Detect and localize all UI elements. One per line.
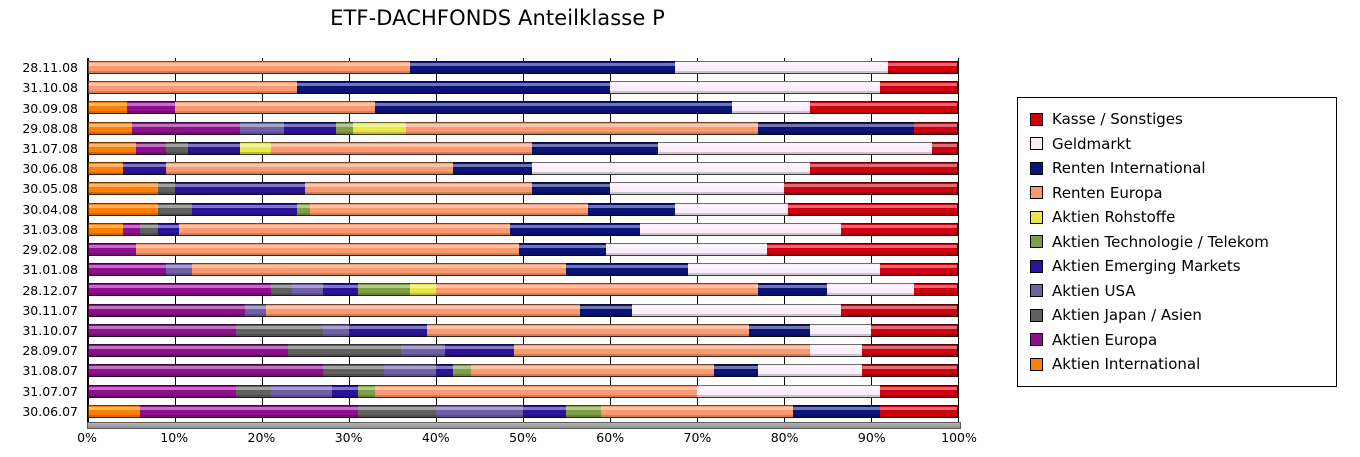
bar-segment[interactable] — [240, 122, 284, 135]
bar-segment[interactable] — [88, 344, 288, 357]
segment-shadow — [810, 354, 862, 356]
bar-segment[interactable] — [349, 324, 427, 337]
stacked-bar[interactable] — [88, 263, 958, 276]
segment-shadow — [375, 111, 732, 113]
segment-highlight — [810, 346, 862, 349]
bar-segment[interactable] — [297, 203, 310, 216]
bar-segment[interactable] — [793, 405, 880, 418]
legend-item[interactable]: Geldmarkt — [1030, 132, 1336, 157]
bar-segment[interactable] — [610, 81, 880, 94]
legend-item[interactable]: Aktien Rohstoffe — [1030, 205, 1336, 230]
segment-shadow — [89, 415, 140, 417]
legend-label: Aktien Europa — [1052, 331, 1157, 349]
segment-shadow — [358, 293, 410, 295]
bar-segment[interactable] — [632, 304, 841, 317]
segment-shadow — [297, 213, 310, 215]
bar-segment[interactable] — [841, 304, 958, 317]
segment-shadow — [140, 415, 358, 417]
segment-highlight — [89, 306, 245, 309]
segment-shadow — [640, 233, 840, 235]
segment-shadow — [767, 253, 957, 255]
segment-highlight — [175, 103, 375, 106]
bar-segment[interactable] — [88, 243, 136, 256]
legend-label: Kasse / Sonstiges — [1052, 110, 1183, 128]
bar-segment[interactable] — [166, 162, 453, 175]
segment-shadow — [292, 293, 322, 295]
bar-segment[interactable] — [436, 364, 453, 377]
bar-segment[interactable] — [580, 304, 632, 317]
bar-segment[interactable] — [810, 324, 871, 337]
segment-highlight — [862, 366, 957, 369]
segment-shadow — [810, 334, 871, 336]
bar-segment[interactable] — [297, 81, 610, 94]
legend-item[interactable]: Kasse / Sonstiges — [1030, 107, 1336, 132]
segment-shadow — [445, 354, 515, 356]
segment-highlight — [601, 407, 792, 410]
segment-shadow — [89, 71, 410, 73]
legend-item[interactable]: Aktien Emerging Markets — [1030, 254, 1336, 279]
bar-segment[interactable] — [123, 162, 167, 175]
segment-shadow — [658, 152, 932, 154]
segment-highlight — [236, 387, 271, 390]
stacked-bar[interactable] — [88, 344, 958, 357]
bar-segment[interactable] — [236, 324, 323, 337]
bar-segment[interactable] — [932, 142, 958, 155]
bar-segment[interactable] — [436, 405, 523, 418]
chart-row — [88, 220, 958, 240]
y-axis-labels: 28.11.0831.10.0830.09.0829.08.0831.07.08… — [0, 58, 82, 422]
stacked-bars — [88, 58, 958, 422]
segment-shadow — [697, 395, 880, 397]
stacked-bar[interactable] — [88, 405, 958, 418]
legend-swatch-icon — [1030, 186, 1043, 199]
segment-highlight — [532, 144, 658, 147]
segment-shadow — [136, 253, 519, 255]
bar-segment[interactable] — [610, 182, 784, 195]
bar-segment[interactable] — [862, 364, 958, 377]
bar-segment[interactable] — [914, 283, 958, 296]
segment-highlight — [297, 83, 610, 86]
bar-segment[interactable] — [88, 364, 323, 377]
bar-segment[interactable] — [88, 142, 136, 155]
bar-segment[interactable] — [566, 405, 601, 418]
bar-segment[interactable] — [532, 142, 658, 155]
legend-swatch-icon — [1030, 162, 1043, 175]
segment-shadow — [127, 111, 175, 113]
segment-shadow — [89, 91, 297, 93]
legend-swatch-icon — [1030, 211, 1043, 224]
x-axis-tick-label: 70% — [683, 430, 711, 445]
bar-segment[interactable] — [332, 385, 358, 398]
bar-segment[interactable] — [88, 263, 166, 276]
bar-segment[interactable] — [88, 203, 158, 216]
legend-item[interactable]: Aktien Technologie / Telekom — [1030, 230, 1336, 255]
segment-highlight — [566, 407, 601, 410]
bar-segment[interactable] — [697, 385, 880, 398]
bar-segment[interactable] — [336, 122, 353, 135]
bar-segment[interactable] — [136, 142, 166, 155]
stacked-bar[interactable] — [88, 324, 958, 337]
segment-shadow — [862, 374, 957, 376]
bar-segment[interactable] — [880, 385, 958, 398]
bar-segment[interactable] — [192, 203, 296, 216]
bar-segment[interactable] — [675, 203, 788, 216]
bar-segment[interactable] — [136, 243, 519, 256]
bar-segment[interactable] — [658, 142, 932, 155]
legend-item[interactable]: Aktien Europa — [1030, 328, 1336, 353]
segment-highlight — [266, 306, 579, 309]
segment-highlight — [136, 144, 166, 147]
segment-shadow — [236, 334, 323, 336]
legend: Kasse / SonstigesGeldmarktRenten Interna… — [1017, 97, 1337, 387]
segment-highlight — [123, 164, 167, 167]
bar-segment[interactable] — [88, 122, 132, 135]
stacked-bar[interactable] — [88, 81, 958, 94]
segment-shadow — [519, 253, 606, 255]
bar-segment[interactable] — [519, 243, 606, 256]
segment-shadow — [158, 213, 193, 215]
segment-highlight — [89, 407, 140, 410]
segment-shadow — [436, 415, 523, 417]
segment-shadow — [532, 172, 810, 174]
segment-highlight — [714, 366, 758, 369]
bar-segment[interactable] — [732, 101, 810, 114]
bar-segment[interactable] — [88, 61, 410, 74]
segment-shadow — [601, 415, 792, 417]
bar-segment[interactable] — [436, 283, 758, 296]
segment-highlight — [89, 63, 410, 66]
segment-shadow — [410, 71, 675, 73]
bar-segment[interactable] — [514, 344, 810, 357]
stacked-bar[interactable] — [88, 61, 958, 74]
bar-segment[interactable] — [88, 81, 297, 94]
segment-shadow — [132, 132, 241, 134]
bar-segment[interactable] — [188, 142, 240, 155]
x-axis-tick-label: 40% — [422, 430, 450, 445]
segment-shadow — [427, 334, 749, 336]
bar-segment[interactable] — [471, 364, 715, 377]
segment-highlight — [606, 245, 767, 248]
bar-segment[interactable] — [323, 324, 349, 337]
segment-shadow — [89, 213, 158, 215]
bar-segment[interactable] — [880, 263, 958, 276]
segment-shadow — [610, 192, 784, 194]
segment-highlight — [123, 225, 140, 228]
segment-highlight — [375, 387, 697, 390]
segment-shadow — [810, 111, 957, 113]
chart-row — [88, 78, 958, 98]
bar-segment[interactable] — [88, 162, 123, 175]
segment-shadow — [580, 314, 632, 316]
stacked-bar[interactable] — [88, 122, 958, 135]
segment-highlight — [914, 124, 957, 127]
bar-segment[interactable] — [175, 182, 306, 195]
legend-label: Renten International — [1052, 159, 1206, 177]
segment-shadow — [240, 132, 284, 134]
bar-segment[interactable] — [384, 364, 436, 377]
bar-segment[interactable] — [410, 61, 675, 74]
bar-segment[interactable] — [88, 101, 127, 114]
bar-segment[interactable] — [532, 162, 810, 175]
segment-highlight — [89, 265, 166, 268]
segment-shadow — [384, 374, 436, 376]
bar-segment[interactable] — [140, 405, 358, 418]
segment-shadow — [89, 374, 323, 376]
segment-shadow — [323, 293, 358, 295]
y-axis-tick-label: 29.08.08 — [22, 121, 78, 136]
bar-segment[interactable] — [880, 405, 958, 418]
bar-segment[interactable] — [179, 223, 510, 236]
bar-segment[interactable] — [158, 182, 175, 195]
stacked-bar[interactable] — [88, 243, 958, 256]
segment-highlight — [158, 184, 175, 187]
bar-segment[interactable] — [358, 405, 436, 418]
bar-segment[interactable] — [288, 344, 401, 357]
segment-shadow — [758, 293, 828, 295]
segment-shadow — [880, 415, 957, 417]
segment-shadow — [179, 233, 510, 235]
y-axis-tick-label: 29.02.08 — [22, 242, 78, 257]
bar-segment[interactable] — [566, 263, 688, 276]
bar-segment[interactable] — [714, 364, 758, 377]
bar-segment[interactable] — [358, 283, 410, 296]
segment-shadow — [288, 354, 401, 356]
segment-shadow — [606, 253, 767, 255]
bar-segment[interactable] — [688, 263, 879, 276]
bar-segment[interactable] — [271, 283, 293, 296]
bar-segment[interactable] — [375, 101, 732, 114]
bar-segment[interactable] — [236, 385, 271, 398]
segment-highlight — [784, 184, 957, 187]
segment-highlight — [89, 225, 123, 228]
chart-row — [88, 260, 958, 280]
bar-segment[interactable] — [749, 324, 810, 337]
segment-highlight — [323, 285, 358, 288]
bar-segment[interactable] — [523, 405, 567, 418]
bar-segment[interactable] — [880, 81, 958, 94]
bar-segment[interactable] — [358, 385, 375, 398]
bar-segment[interactable] — [305, 182, 531, 195]
bar-segment[interactable] — [758, 122, 915, 135]
chart-row — [88, 58, 958, 78]
bar-segment[interactable] — [767, 243, 958, 256]
bar-segment[interactable] — [88, 283, 271, 296]
segment-shadow — [880, 91, 957, 93]
segment-highlight — [580, 306, 632, 309]
bar-segment[interactable] — [266, 304, 579, 317]
segment-highlight — [89, 326, 236, 329]
bar-segment[interactable] — [810, 101, 958, 114]
bar-segment[interactable] — [127, 101, 175, 114]
bar-segment[interactable] — [88, 385, 236, 398]
segment-shadow — [436, 374, 453, 376]
segment-shadow — [166, 172, 453, 174]
bar-segment[interactable] — [401, 344, 445, 357]
bar-segment[interactable] — [132, 122, 241, 135]
segment-highlight — [471, 366, 715, 369]
segment-highlight — [406, 124, 758, 127]
segment-highlight — [514, 346, 810, 349]
bar-segment[interactable] — [88, 304, 245, 317]
bar-segment[interactable] — [240, 142, 270, 155]
bar-segment[interactable] — [166, 263, 192, 276]
bar-segment[interactable] — [871, 324, 958, 337]
bar-segment[interactable] — [375, 385, 697, 398]
segment-highlight — [349, 326, 427, 329]
stacked-bar[interactable] — [88, 182, 958, 195]
legend-label: Aktien USA — [1052, 282, 1136, 300]
bar-segment[interactable] — [284, 122, 336, 135]
segment-shadow — [166, 273, 192, 275]
segment-shadow — [714, 374, 758, 376]
bar-segment[interactable] — [827, 283, 914, 296]
bar-segment[interactable] — [588, 203, 675, 216]
legend-swatch-icon — [1030, 284, 1043, 297]
legend-label: Renten Europa — [1052, 184, 1163, 202]
bar-segment[interactable] — [88, 182, 158, 195]
bar-segment[interactable] — [245, 304, 267, 317]
segment-highlight — [632, 306, 841, 309]
segment-shadow — [158, 192, 175, 194]
stacked-bar[interactable] — [88, 101, 958, 114]
bar-segment[interactable] — [88, 405, 140, 418]
legend-item[interactable]: Aktien Japan / Asien — [1030, 303, 1336, 328]
bar-segment[interactable] — [810, 344, 862, 357]
segment-shadow — [89, 152, 136, 154]
bar-segment[interactable] — [640, 223, 840, 236]
stacked-bar[interactable] — [88, 162, 958, 175]
plot-area — [87, 58, 959, 422]
bar-segment[interactable] — [158, 223, 180, 236]
bar-segment[interactable] — [271, 385, 332, 398]
stacked-bar[interactable] — [88, 385, 958, 398]
bar-segment[interactable] — [675, 61, 888, 74]
chart-row — [88, 382, 958, 402]
segment-highlight — [336, 124, 353, 127]
legend-item[interactable]: Renten Europa — [1030, 181, 1336, 206]
bar-segment[interactable] — [410, 283, 436, 296]
bar-segment[interactable] — [758, 364, 862, 377]
bar-segment[interactable] — [88, 324, 236, 337]
bar-segment[interactable] — [453, 162, 531, 175]
bar-segment[interactable] — [532, 182, 610, 195]
bar-segment[interactable] — [841, 223, 958, 236]
segment-highlight — [888, 63, 957, 66]
segment-highlight — [323, 326, 349, 329]
bar-segment[interactable] — [271, 142, 532, 155]
segment-highlight — [175, 184, 306, 187]
bar-segment[interactable] — [123, 223, 140, 236]
stacked-bar[interactable] — [88, 283, 958, 296]
segment-highlight — [427, 326, 749, 329]
y-axis-tick-label: 31.07.07 — [22, 384, 78, 399]
chart-row — [88, 321, 958, 341]
bar-segment[interactable] — [914, 122, 958, 135]
bar-segment[interactable] — [323, 364, 384, 377]
bar-segment[interactable] — [862, 344, 958, 357]
segment-highlight — [140, 407, 358, 410]
chart-row — [88, 139, 958, 159]
bar-segment[interactable] — [784, 182, 958, 195]
segment-shadow — [349, 334, 427, 336]
bar-segment[interactable] — [158, 203, 193, 216]
segment-highlight — [510, 225, 641, 228]
segment-highlight — [566, 265, 688, 268]
bar-segment[interactable] — [353, 122, 405, 135]
bar-segment[interactable] — [323, 283, 358, 296]
bar-segment[interactable] — [510, 223, 641, 236]
y-axis-tick-label: 30.06.07 — [22, 404, 78, 419]
segment-highlight — [758, 124, 915, 127]
bar-segment[interactable] — [445, 344, 515, 357]
stacked-bar[interactable] — [88, 223, 958, 236]
bar-segment[interactable] — [606, 243, 767, 256]
bar-segment[interactable] — [888, 61, 958, 74]
bar-segment[interactable] — [292, 283, 322, 296]
segment-highlight — [288, 346, 401, 349]
y-axis-tick-label: 31.10.08 — [22, 80, 78, 95]
segment-highlight — [89, 205, 158, 208]
segment-highlight — [89, 387, 236, 390]
segment-shadow — [89, 334, 236, 336]
bar-segment[interactable] — [140, 223, 157, 236]
legend-item[interactable]: Aktien USA — [1030, 279, 1336, 304]
legend-swatch-icon — [1030, 358, 1043, 371]
segment-shadow — [914, 132, 957, 134]
bar-segment[interactable] — [758, 283, 828, 296]
segment-shadow — [175, 111, 375, 113]
segment-highlight — [284, 124, 336, 127]
stacked-bar[interactable] — [88, 304, 958, 317]
segment-highlight — [758, 366, 862, 369]
segment-highlight — [827, 285, 914, 288]
legend-item[interactable]: Aktien International — [1030, 352, 1336, 377]
bar-segment[interactable] — [175, 101, 375, 114]
legend-item[interactable]: Renten International — [1030, 156, 1336, 181]
segment-highlight — [89, 144, 136, 147]
stacked-bar[interactable] — [88, 203, 958, 216]
segment-highlight — [880, 265, 957, 268]
bar-segment[interactable] — [166, 142, 188, 155]
segment-highlight — [675, 205, 788, 208]
segment-shadow — [453, 172, 531, 174]
bar-segment[interactable] — [192, 263, 566, 276]
bar-segment[interactable] — [453, 364, 470, 377]
segment-highlight — [880, 387, 957, 390]
segment-highlight — [749, 326, 810, 329]
bar-segment[interactable] — [88, 223, 123, 236]
bar-segment[interactable] — [406, 122, 758, 135]
bar-segment[interactable] — [601, 405, 792, 418]
legend-swatch-icon — [1030, 235, 1043, 248]
bar-segment[interactable] — [427, 324, 749, 337]
stacked-bar[interactable] — [88, 142, 958, 155]
x-axis-tick-label: 0% — [77, 430, 97, 445]
bar-segment[interactable] — [810, 162, 958, 175]
segment-shadow — [510, 233, 641, 235]
segment-shadow — [271, 293, 293, 295]
segment-shadow — [89, 132, 132, 134]
chart-row — [88, 159, 958, 179]
y-axis-tick-label: 28.09.07 — [22, 343, 78, 358]
segment-shadow — [271, 395, 332, 397]
segment-shadow — [89, 253, 136, 255]
bar-segment[interactable] — [788, 203, 958, 216]
segment-shadow — [332, 395, 358, 397]
segment-shadow — [236, 395, 271, 397]
bar-segment[interactable] — [310, 203, 588, 216]
stacked-bar[interactable] — [88, 364, 958, 377]
